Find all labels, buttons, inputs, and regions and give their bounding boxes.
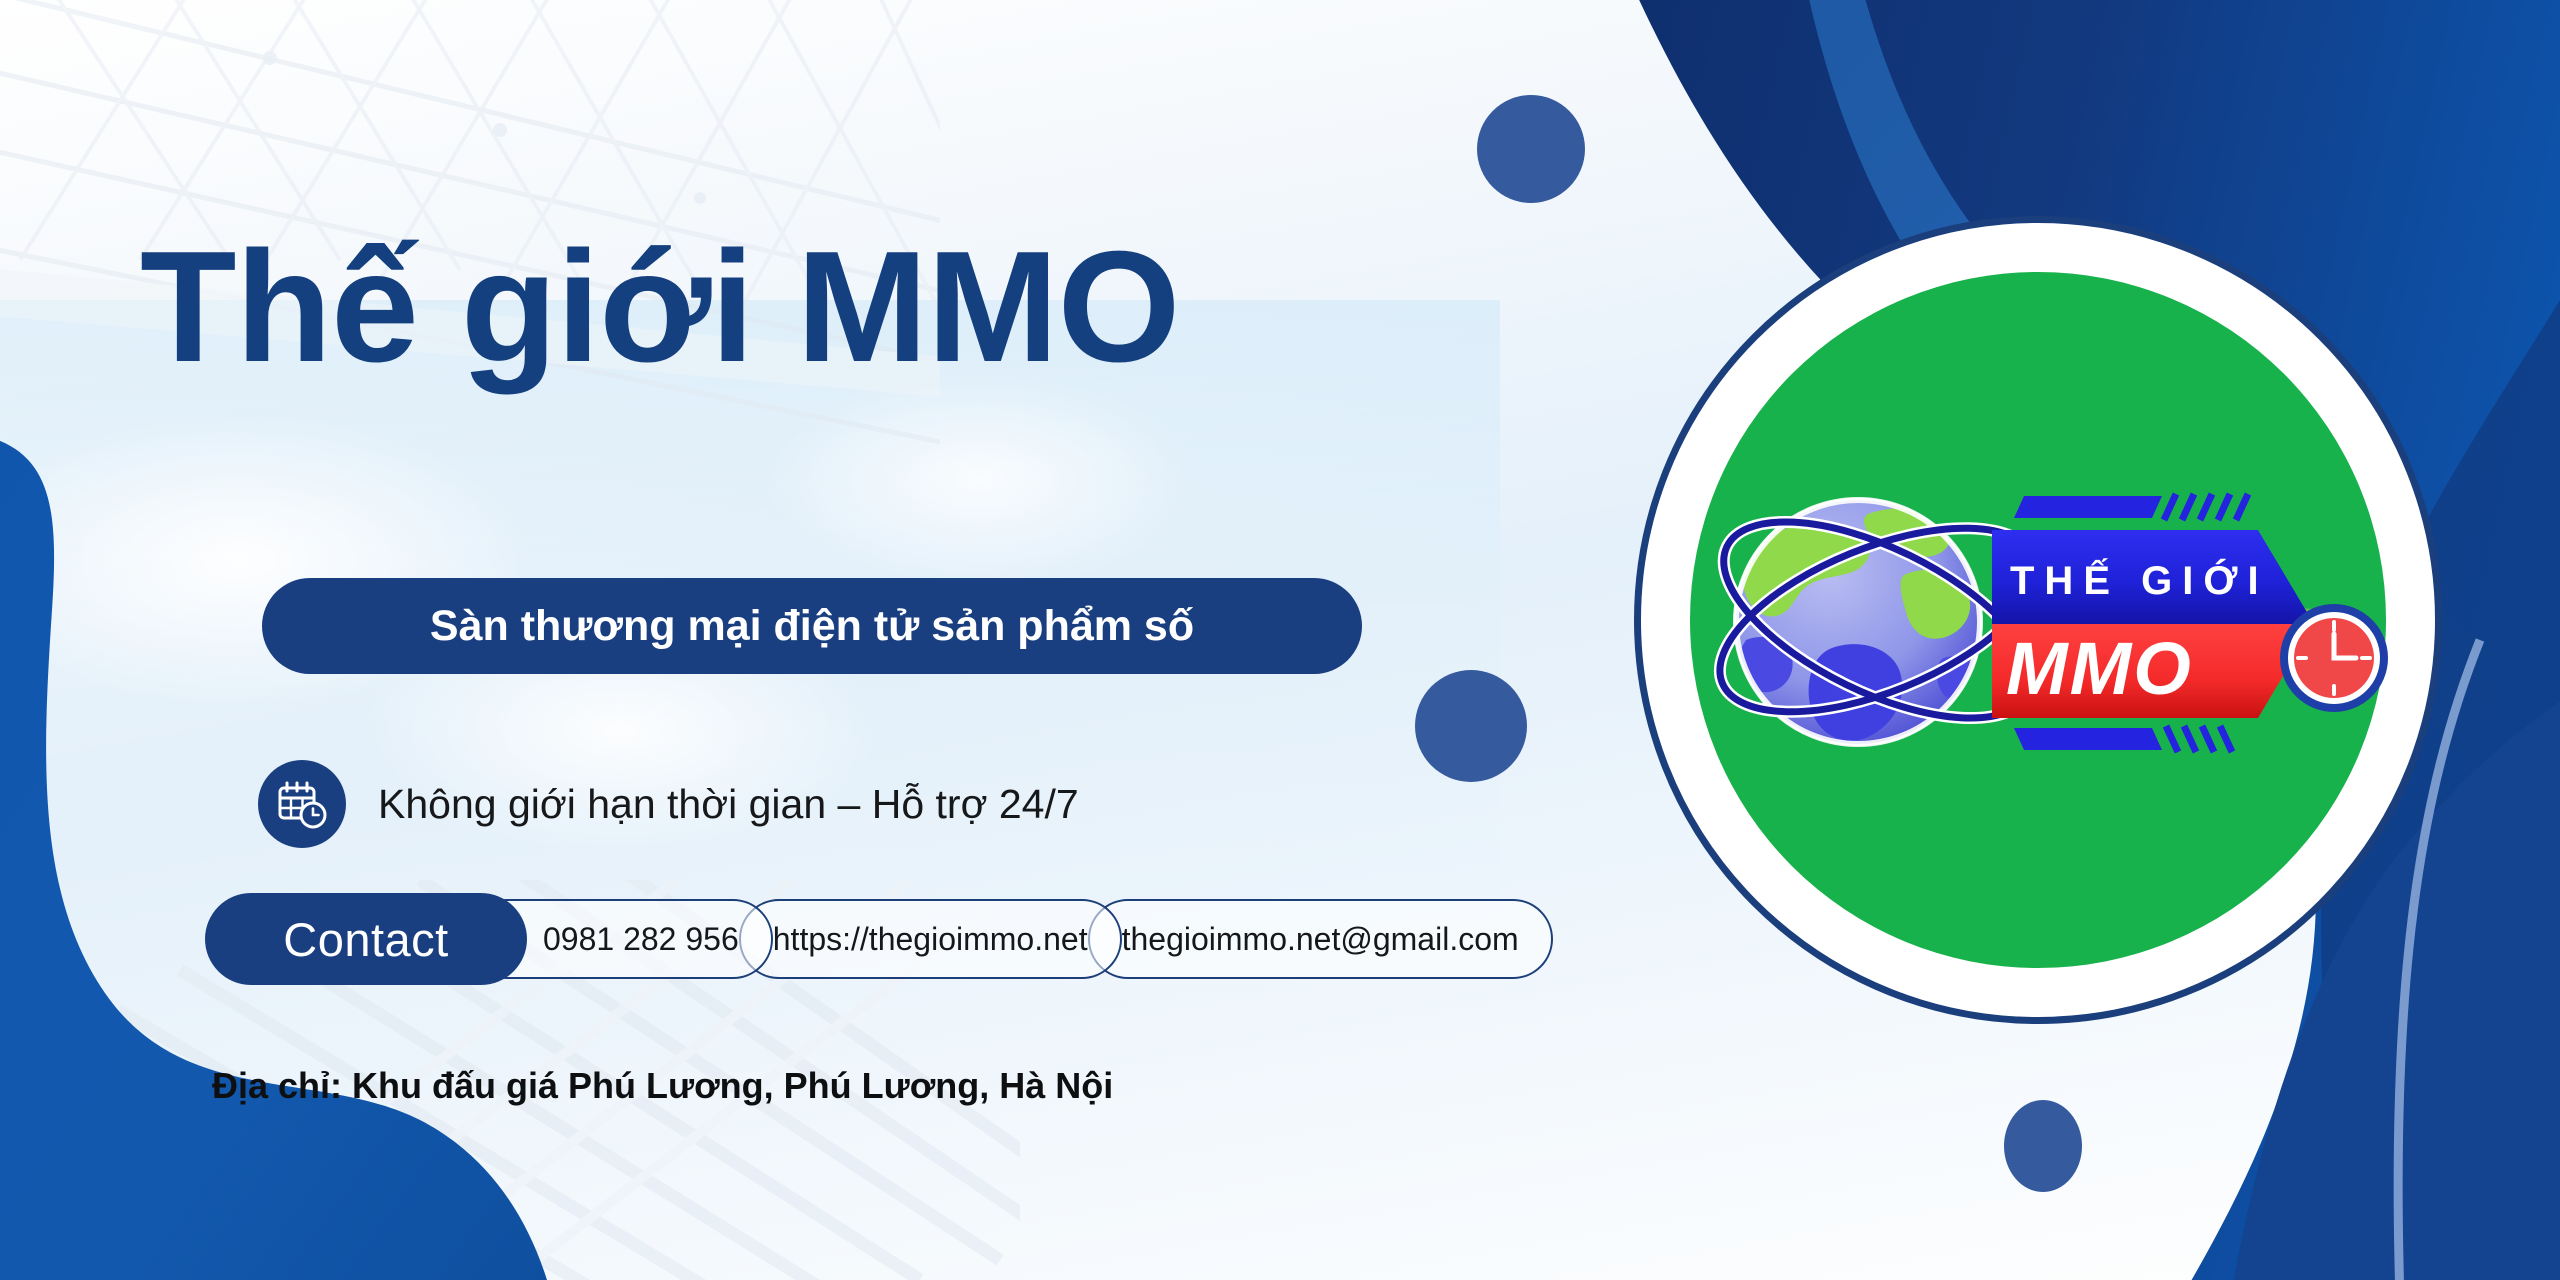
logo-badge: THẾ GIỚI MMO xyxy=(1992,494,2330,752)
subtitle-text: Sàn thương mại điện tử sản phẩm số xyxy=(430,602,1194,651)
marketing-banner: Thế giới MMO Sàn thương mại điện tử sản … xyxy=(0,0,2560,1280)
address-text: Địa chỉ: Khu đấu giá Phú Lương, Phú Lươn… xyxy=(212,1065,1113,1107)
banner-content: Thế giới MMO Sàn thương mại điện tử sản … xyxy=(0,0,1700,1280)
contact-label-badge: Contact xyxy=(205,893,527,985)
feature-row: Không giới hạn thời gian – Hỗ trợ 24/7 xyxy=(258,760,1079,848)
contact-email[interactable]: thegioimmo.net@gmail.com xyxy=(1088,899,1553,979)
logo-medallion: THẾ GIỚI MMO xyxy=(1634,216,2442,1024)
page-title: Thế giới MMO xyxy=(140,228,1179,386)
badge-bottom-text: MMO xyxy=(2006,627,2193,710)
calendar-clock-icon xyxy=(258,760,346,848)
contact-label: Contact xyxy=(283,912,448,967)
contact-bar: Contact 0981 282 956 https://thegioimmo.… xyxy=(205,893,1553,985)
thegioimmo-logo: THẾ GIỚI MMO xyxy=(1710,452,2390,792)
clock-icon xyxy=(2280,604,2388,712)
contact-website[interactable]: https://thegioimmo.net xyxy=(739,899,1122,979)
feature-text: Không giới hạn thời gian – Hỗ trợ 24/7 xyxy=(378,781,1079,828)
subtitle-pill: Sàn thương mại điện tử sản phẩm số xyxy=(262,578,1362,674)
decorative-dot xyxy=(2004,1100,2082,1192)
badge-top-text: THẾ GIỚI xyxy=(2010,557,2269,603)
